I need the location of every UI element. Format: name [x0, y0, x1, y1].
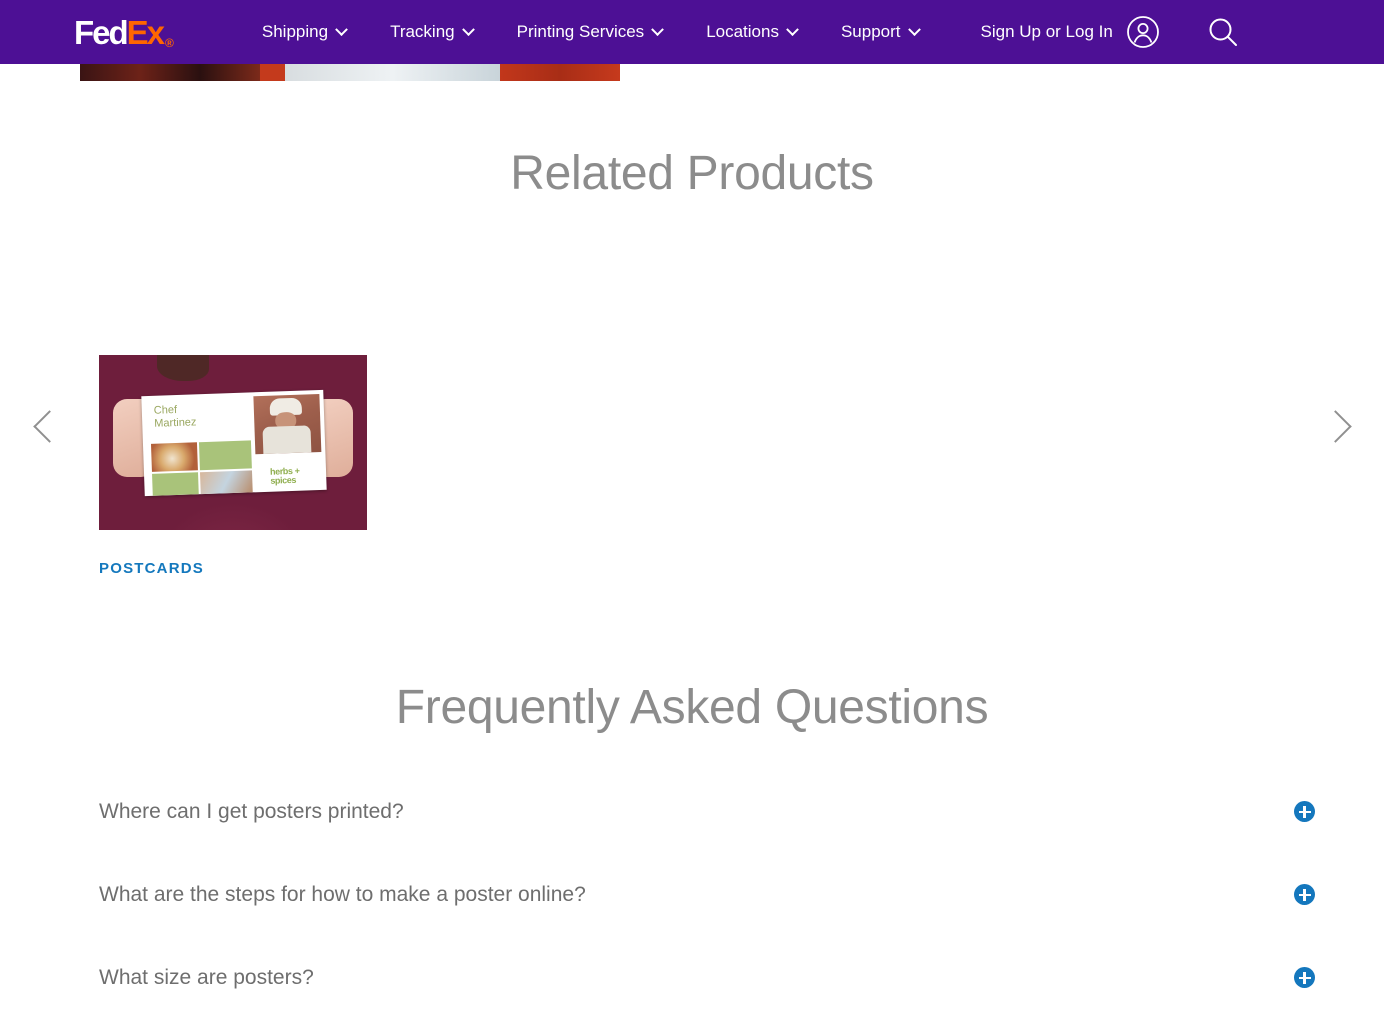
sign-up-or-log-in-link[interactable]: Sign Up or Log In — [981, 22, 1113, 42]
postcard-artwork: Chef Martinez herbs + spices — [141, 390, 326, 496]
plus-circle-icon[interactable] — [1294, 801, 1315, 822]
nav-item-shipping-label: Shipping — [262, 22, 328, 42]
postcard-logo-text: herbs + spices — [270, 466, 319, 486]
carousel-next-button[interactable] — [1318, 410, 1352, 444]
postcard-green-block-2 — [152, 472, 199, 496]
postcard-green-block-1 — [199, 440, 252, 470]
nav-item-shipping[interactable]: Shipping — [262, 22, 346, 42]
faq-question-text: What size are posters? — [99, 966, 314, 990]
user-account-icon[interactable] — [1125, 14, 1161, 50]
plus-circle-icon[interactable] — [1294, 967, 1315, 988]
nav-item-support-label: Support — [841, 22, 901, 42]
top-navigation-bar: FedEx® Shipping Tracking Printing Servic… — [0, 0, 1384, 64]
postcard-name-text: Chef Martinez — [154, 402, 235, 431]
faq-item[interactable]: Where can I get posters printed? — [99, 770, 1315, 853]
primary-nav-links: Shipping Tracking Printing Services Loca… — [262, 22, 963, 42]
nav-item-support[interactable]: Support — [841, 22, 919, 42]
product-card-postcards[interactable]: Chef Martinez herbs + spices POSTCARDS — [99, 355, 367, 577]
chevron-down-icon — [786, 23, 799, 36]
plus-circle-icon[interactable] — [1294, 884, 1315, 905]
related-products-heading: Related Products — [0, 146, 1384, 201]
related-products-carousel: Chef Martinez herbs + spices POSTCARDS — [0, 355, 1384, 600]
faq-question-text: What are the steps for how to make a pos… — [99, 883, 586, 907]
nav-item-printing-services[interactable]: Printing Services — [517, 22, 663, 42]
faq-heading: Frequently Asked Questions — [0, 680, 1384, 735]
faq-question-text: Where can I get posters printed? — [99, 800, 404, 824]
nav-item-printing-services-label: Printing Services — [517, 22, 645, 42]
photo-person-hair — [157, 355, 209, 381]
nav-item-tracking-label: Tracking — [390, 22, 455, 42]
chef-coat-shape — [262, 425, 311, 454]
postcard-chef-photo — [253, 394, 321, 454]
nav-item-locations[interactable]: Locations — [706, 22, 797, 42]
chevron-down-icon — [651, 23, 664, 36]
chevron-down-icon — [908, 23, 921, 36]
postcard-food-photo-2 — [200, 470, 253, 494]
fedex-logo[interactable]: FedEx® — [74, 16, 174, 49]
product-image-postcards: Chef Martinez herbs + spices — [99, 355, 367, 530]
carousel-prev-button[interactable] — [32, 410, 66, 444]
search-icon[interactable] — [1206, 15, 1240, 49]
faq-item[interactable]: What are the steps for how to make a pos… — [99, 853, 1315, 936]
logo-fed-text: Fed — [74, 16, 127, 49]
nav-right-group: Sign Up or Log In — [981, 14, 1240, 50]
chevron-down-icon — [335, 23, 348, 36]
faq-item[interactable]: What size are posters? — [99, 936, 1315, 1019]
nav-item-locations-label: Locations — [706, 22, 779, 42]
postcard-name-line2: Martinez — [154, 416, 197, 429]
chevron-down-icon — [462, 23, 475, 36]
faq-list: Where can I get posters printed? What ar… — [99, 770, 1315, 1019]
nav-item-tracking[interactable]: Tracking — [390, 22, 473, 42]
product-card-label-postcards[interactable]: POSTCARDS — [99, 560, 367, 577]
logo-ex-text: Ex — [127, 16, 163, 49]
registered-trademark-icon: ® — [165, 37, 174, 49]
postcard-food-photo-1 — [151, 442, 198, 472]
postcard-name-line1: Chef — [154, 404, 178, 417]
